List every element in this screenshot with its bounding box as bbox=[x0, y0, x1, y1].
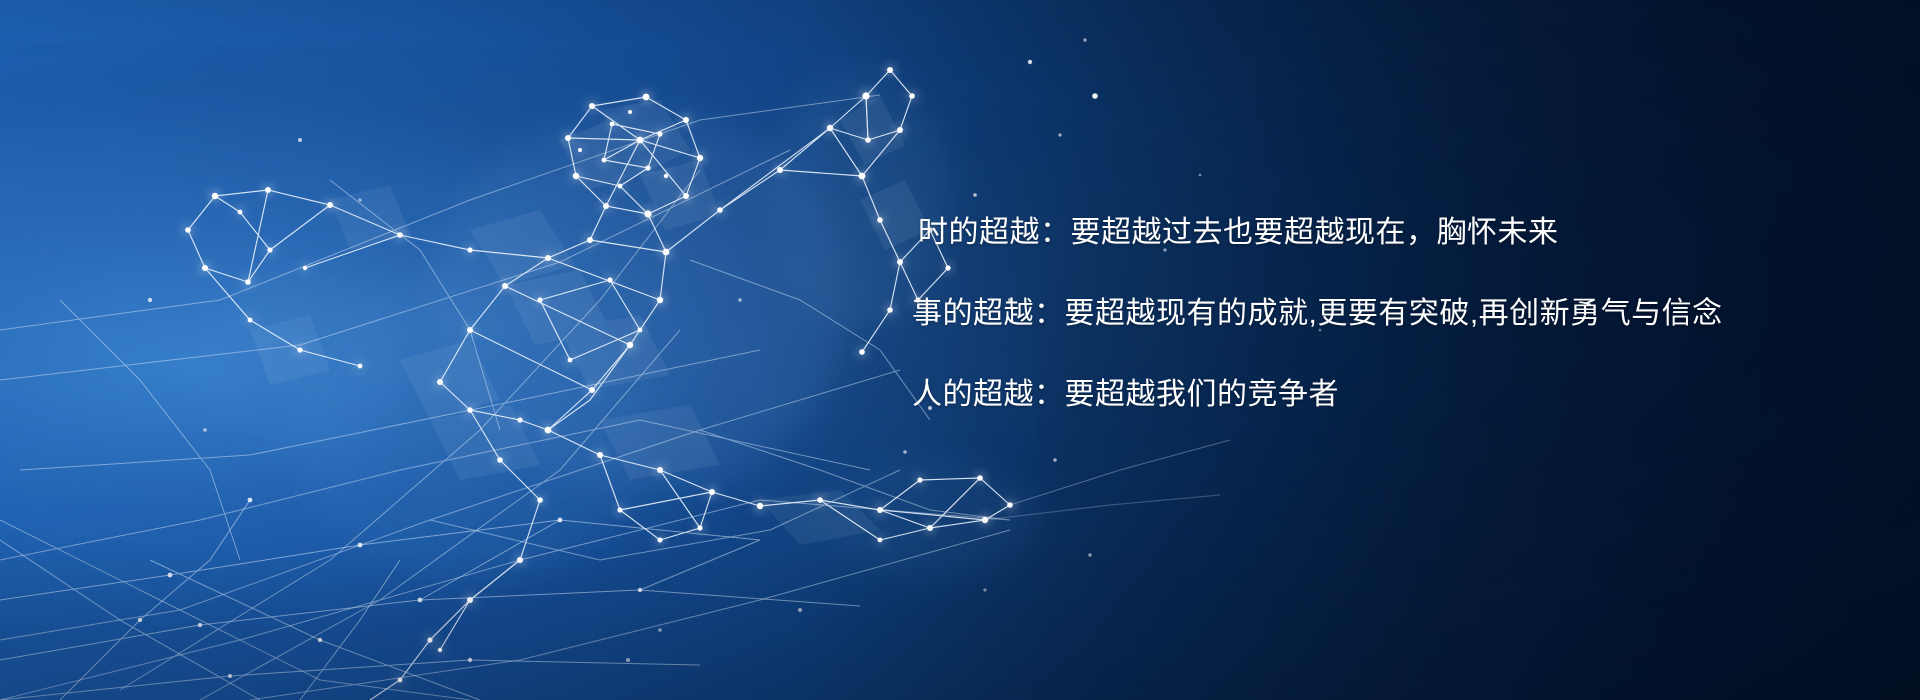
hero-line-matter: 事的超越：要超越现有的成就,更要有突破,再创新勇气与信念 bbox=[912, 299, 1812, 329]
hero-line-people: 人的超越：要超越我们的竞争者 bbox=[912, 380, 1812, 410]
hero-banner: 时的超越：要超越过去也要超越现在，胸怀未来 事的超越：要超越现有的成就,更要有突… bbox=[0, 0, 1920, 700]
hero-line-time: 时的超越：要超越过去也要超越现在，胸怀未来 bbox=[918, 218, 1812, 248]
hero-text-block: 时的超越：要超越过去也要超越现在，胸怀未来 事的超越：要超越现有的成就,更要有突… bbox=[912, 218, 1812, 410]
